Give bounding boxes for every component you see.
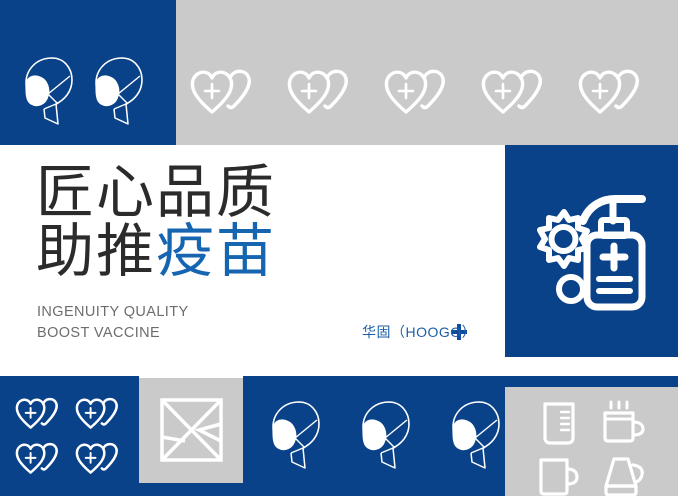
subtitle-line-2: BOOST VACCINE xyxy=(37,323,189,344)
bottom-blue-filler xyxy=(139,483,243,496)
masked-head-icon xyxy=(445,396,507,474)
lab-icon-group xyxy=(530,399,652,496)
page-title: 匠心品质 助推疫苗 xyxy=(36,165,276,281)
headline-line-2-dark: 助推 xyxy=(36,219,156,284)
top-mask-icon-group xyxy=(18,52,150,130)
heart-pair-plus-icon xyxy=(186,64,262,124)
kettle-icon xyxy=(594,453,652,496)
bottom-right-gray-panel xyxy=(505,387,678,496)
steaming-cup-icon xyxy=(594,399,652,447)
heart-pair-plus-icon xyxy=(574,64,650,124)
bottom-band xyxy=(0,376,678,496)
brand-name: 华固（HOOGO） xyxy=(362,322,476,342)
top-heart-icon-group xyxy=(186,64,650,124)
subtitle: INGENUITY QUALITY BOOST VACCINE xyxy=(37,302,189,344)
headline-line-2-blue: 疫苗 xyxy=(156,219,276,284)
heart-pair-plus-icon xyxy=(71,393,127,436)
small-ring-icon xyxy=(559,277,583,301)
broken-image-placeholder-icon xyxy=(159,397,224,463)
masked-head-icon xyxy=(355,396,417,474)
headline-line-2: 助推疫苗 xyxy=(36,224,276,281)
white-gap-strip xyxy=(0,357,678,376)
heart-pair-plus-icon xyxy=(477,64,553,124)
heart-pair-plus-icon xyxy=(11,438,67,481)
bottom-gray-placeholder-panel xyxy=(139,378,243,483)
masked-head-icon xyxy=(265,396,327,474)
right-blue-panel xyxy=(505,145,678,357)
masked-head-icon xyxy=(88,52,150,130)
poster-canvas: 匠心品质 助推疫苗 INGENUITY QUALITY BOOST VACCIN… xyxy=(0,0,678,496)
bottom-left-blue-panel xyxy=(0,376,139,496)
heart-pair-plus-icon xyxy=(380,64,456,124)
mug-icon xyxy=(530,453,588,496)
heart-pair-plus-icon xyxy=(11,393,67,436)
measuring-beaker-icon xyxy=(530,399,588,447)
bottom-middle-blue-panel xyxy=(243,376,505,496)
heart-pair-plus-icon xyxy=(71,438,127,481)
heart-pair-plus-icon xyxy=(283,64,359,124)
hand-sanitizer-pump-icon xyxy=(531,183,655,315)
headline-line-1: 匠心品质 xyxy=(36,165,276,222)
masked-head-icon xyxy=(18,52,80,130)
bottom-right-blue-strip xyxy=(505,376,678,387)
bottom-mask-icon-group xyxy=(265,396,507,474)
top-band xyxy=(0,0,678,145)
bottom-heart-icon-group xyxy=(11,393,127,481)
subtitle-line-1: INGENUITY QUALITY xyxy=(37,302,189,323)
